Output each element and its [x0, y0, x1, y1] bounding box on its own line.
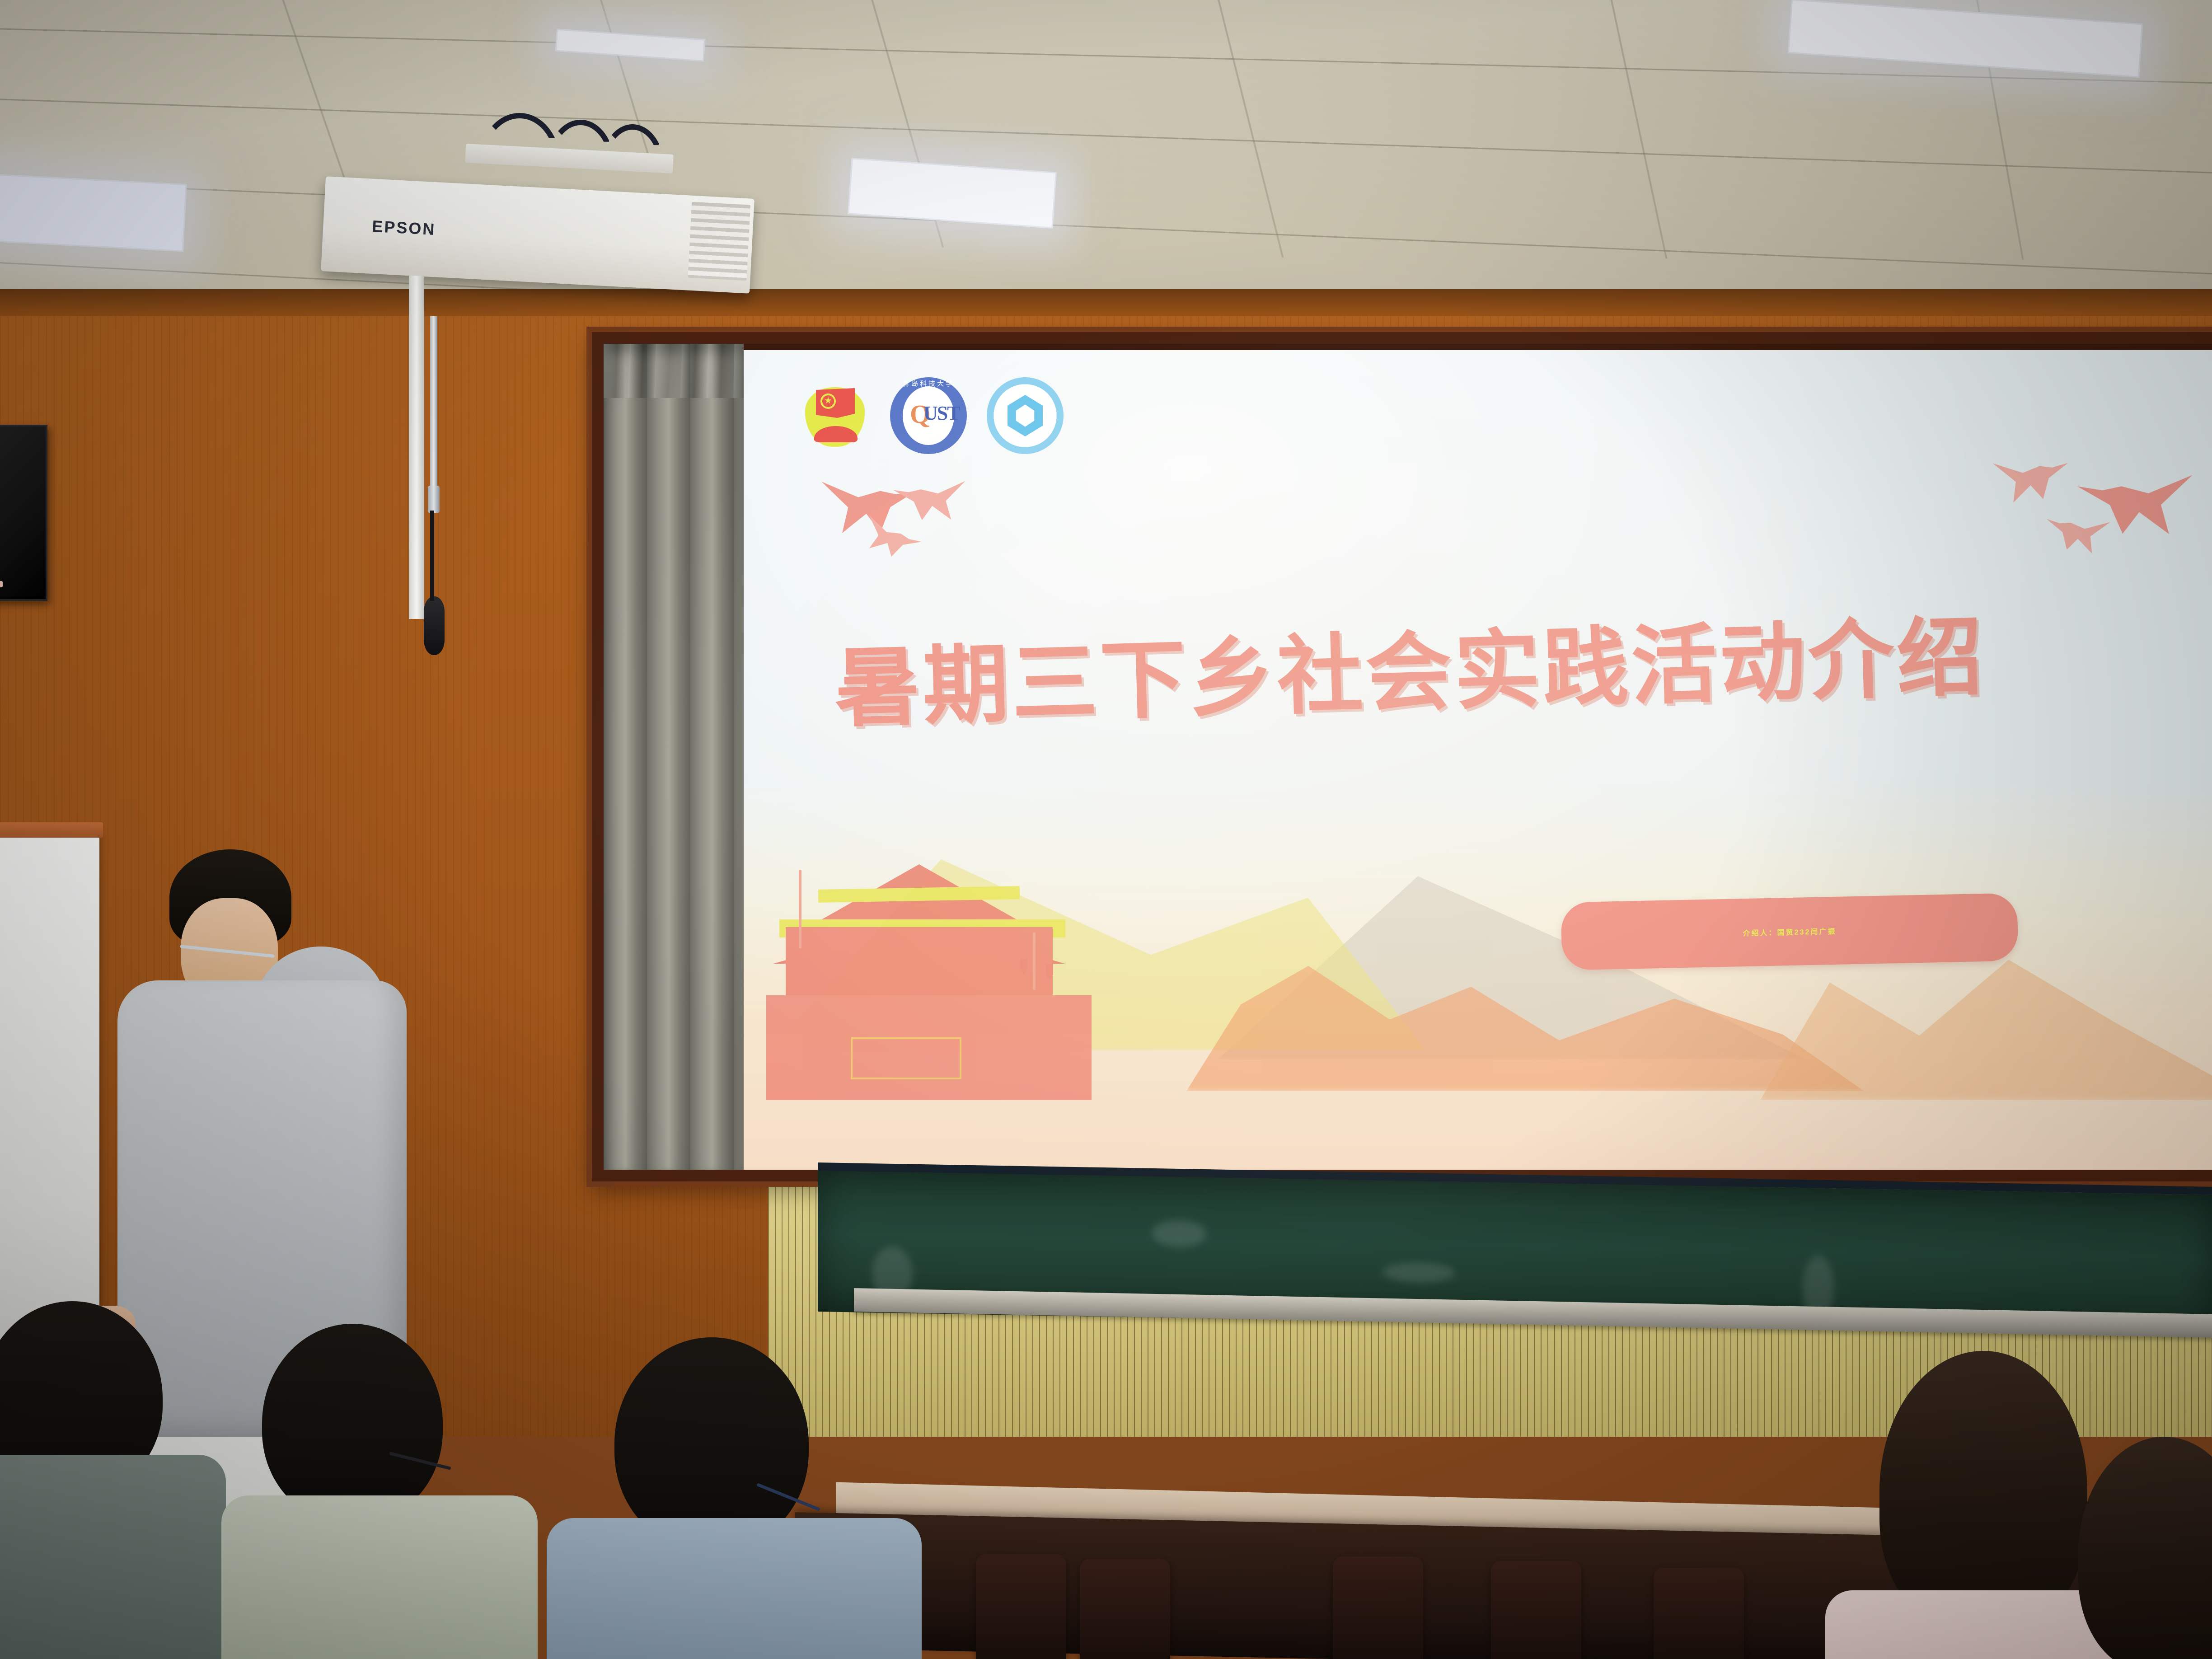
microphone-joint — [428, 486, 440, 513]
projection-screen: 青岛科技大学 Q UST 暑期三下乡社会实践活动介绍 — [744, 350, 2212, 1179]
hanging-microphone — [424, 596, 445, 655]
speaker-led-indicator — [0, 581, 3, 587]
audience-torso — [221, 1495, 538, 1659]
chair-back — [1654, 1568, 1744, 1659]
projector-mount-pole — [409, 276, 424, 619]
microphone-pole — [430, 316, 437, 488]
projector-brand-label: EPSON — [371, 217, 436, 239]
audience-hair — [2078, 1437, 2212, 1659]
audience-torso — [547, 1518, 922, 1659]
microphone-cable — [430, 511, 434, 601]
audience-member — [0, 1301, 226, 1659]
slide-logo-row: 青岛科技大学 Q UST — [802, 377, 1064, 454]
audience-member — [2060, 1437, 2212, 1659]
wall-speaker — [0, 425, 47, 601]
chair-back — [1333, 1556, 1423, 1659]
tiananmen-gate-illustration — [766, 838, 1092, 1100]
communist-youth-league-logo — [802, 382, 870, 450]
presenter-badge-label: 介绍人：国贸232闫广振 — [1743, 925, 1836, 938]
equipment-cabinet — [0, 829, 99, 1367]
ceiling-light-panel — [555, 29, 706, 62]
projection-screen-frame: 青岛科技大学 Q UST 暑期三下乡社会实践活动介绍 — [592, 332, 2212, 1181]
window-curtain — [604, 344, 744, 1170]
presenter-badge: 介绍人：国贸232闫广振 — [1561, 893, 2019, 970]
chair-back — [1491, 1561, 1581, 1659]
qust-university-logo: 青岛科技大学 Q UST — [890, 377, 967, 454]
chair-back — [976, 1554, 1066, 1659]
classroom-presentation-scene: EPSON — [0, 0, 2212, 1659]
qust-logo-ust-mark: UST — [923, 402, 960, 425]
audience-member — [556, 1337, 863, 1659]
audience-hair — [1879, 1351, 2087, 1631]
audience-head — [262, 1324, 443, 1523]
chair-back — [1080, 1559, 1170, 1659]
audience-torso — [0, 1455, 226, 1659]
cabinet-wood-top — [0, 822, 103, 838]
ceiling-light-panel — [0, 173, 187, 252]
projector-vent — [688, 202, 751, 281]
wall-trim-top — [0, 289, 2212, 316]
ceiling-light-panel — [1788, 0, 2143, 78]
audience-member — [194, 1324, 465, 1659]
school-of-economics-logo — [987, 377, 1064, 454]
